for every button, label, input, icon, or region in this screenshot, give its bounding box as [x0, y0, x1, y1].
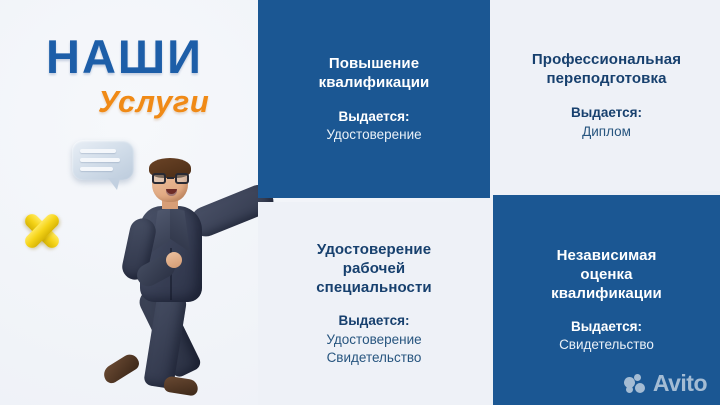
service-card-heading-line: квалификации — [319, 73, 430, 92]
issue-label: Выдается: — [326, 108, 421, 126]
issue-label: Выдается: — [559, 318, 654, 336]
service-card-heading: Независимая оценка квалификации — [551, 246, 662, 304]
issue-value: Свидетельство — [326, 349, 421, 367]
issue-value: Свидетельство — [559, 336, 654, 354]
service-card-issue-block: Выдается: Диплом — [571, 104, 642, 140]
promo-banner: НАШИ Услуги — [0, 0, 720, 405]
left-shoe — [100, 351, 141, 386]
glasses-icon — [152, 173, 189, 184]
service-card-issue-block: Выдается: Удостоверение Свидетельство — [326, 312, 421, 367]
service-card-heading: Повышение квалификации — [319, 54, 430, 92]
left-hand — [166, 252, 182, 268]
issue-label: Выдается: — [571, 104, 642, 122]
issue-value: Диплом — [571, 123, 642, 141]
issue-value: Удостоверение — [326, 331, 421, 349]
service-card-professional-retraining[interactable]: Профессиональная переподготовка Выдается… — [493, 0, 720, 191]
cross-icon — [20, 209, 64, 253]
service-card-worker-certificate[interactable]: Удостоверение рабочей специальности Выда… — [258, 202, 490, 405]
avito-logo-icon — [624, 374, 648, 394]
service-card-issue-block: Выдается: Свидетельство — [559, 318, 654, 354]
businessman-illustration — [100, 160, 275, 405]
issue-label: Выдается: — [326, 312, 421, 330]
glasses-lens-right — [175, 173, 189, 184]
service-card-heading-line: квалификации — [551, 284, 662, 303]
service-card-heading-line: оценка — [551, 265, 662, 284]
avito-dot — [634, 374, 641, 381]
service-card-professional-development[interactable]: Повышение квалификации Выдается: Удостов… — [258, 0, 490, 198]
service-card-heading-line: Удостоверение — [316, 240, 432, 259]
avito-dot — [635, 383, 645, 393]
page-title: НАШИ — [46, 34, 251, 80]
avito-wordmark: Avito — [653, 372, 707, 395]
glasses-lens-left — [152, 173, 166, 184]
avito-dot — [626, 386, 633, 393]
issue-value: Удостоверение — [326, 126, 421, 144]
service-card-heading-line: переподготовка — [532, 69, 681, 88]
service-card-heading-line: Независимая — [551, 246, 662, 265]
service-card-issue-block: Выдается: Удостоверение — [326, 108, 421, 144]
service-card-heading-line: специальности — [316, 278, 432, 297]
service-card-heading: Профессиональная переподготовка — [532, 50, 681, 88]
right-shoe — [163, 375, 199, 396]
service-card-heading: Удостоверение рабочей специальности — [316, 240, 432, 298]
glasses-bridge — [167, 177, 174, 179]
service-card-heading-line: Повышение — [319, 54, 430, 73]
service-card-heading-line: рабочей — [316, 259, 432, 278]
avito-watermark: Avito — [624, 372, 707, 395]
title-block: НАШИ Услуги — [46, 34, 251, 117]
service-card-heading-line: Профессиональная — [532, 50, 681, 69]
page-subtitle: Услуги — [98, 86, 251, 117]
bubble-line — [80, 149, 116, 153]
